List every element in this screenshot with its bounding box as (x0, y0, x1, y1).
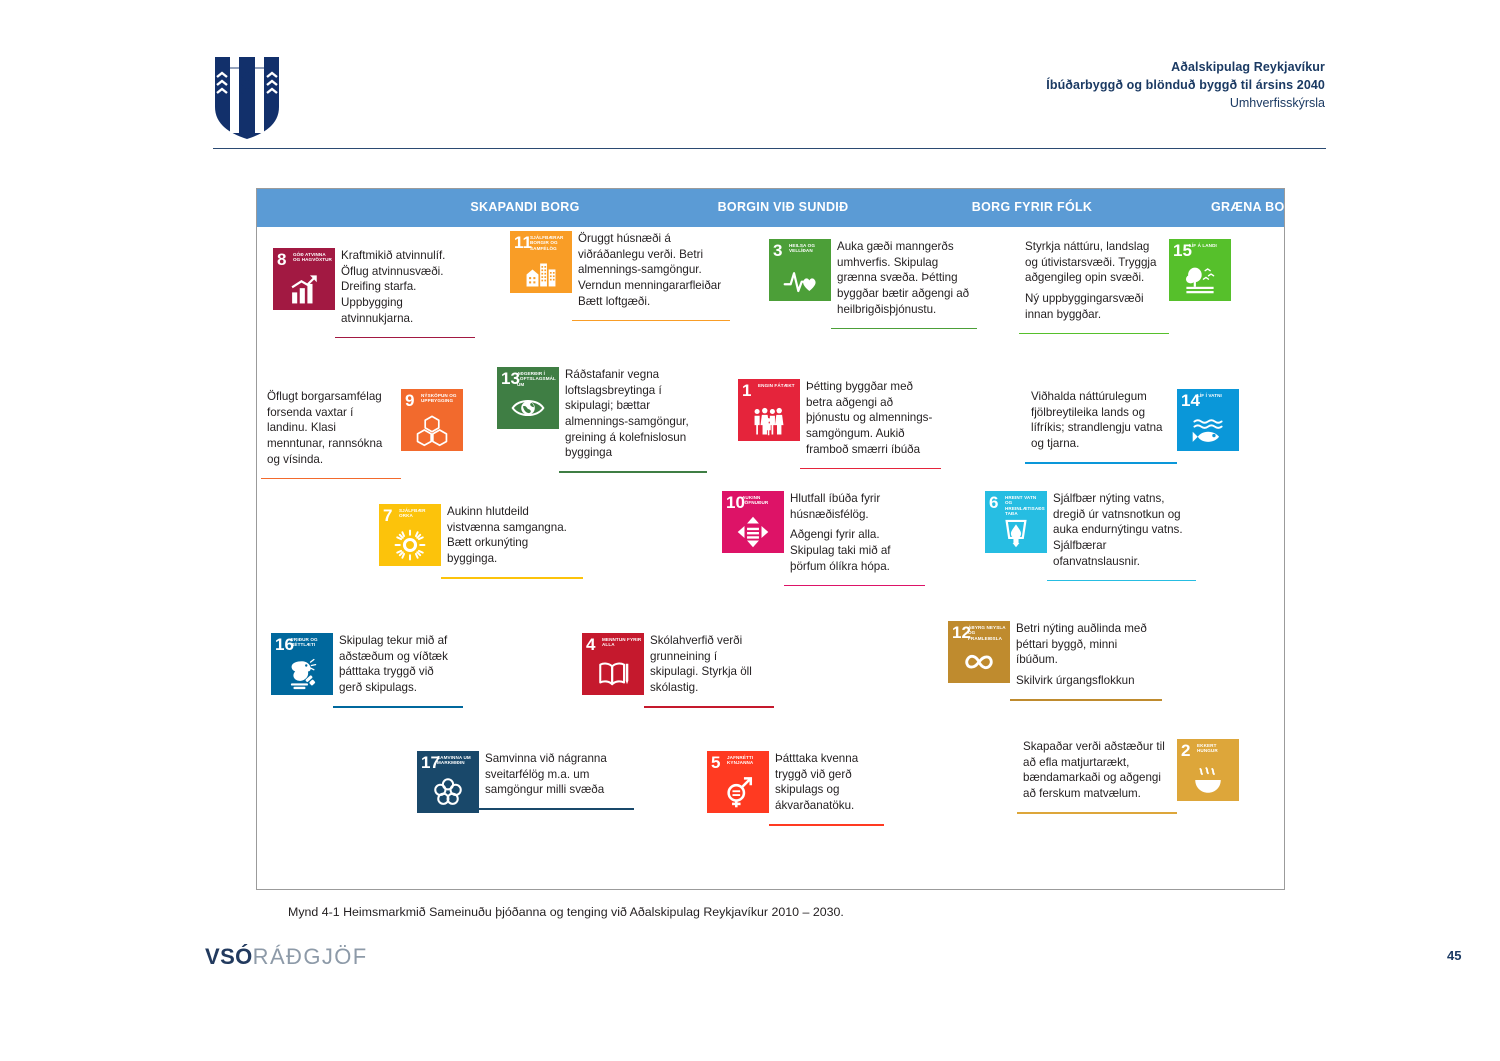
sdg-tile-9: 9NÝSKÖPUN OG UPPBYGGING (401, 389, 463, 451)
page-number: 45 (1447, 948, 1461, 963)
sdg-paragraph: Auka gæði manngerðs umhverfis. Skipulag … (837, 239, 971, 317)
column-header-borgin-vid-sundid: BORGIN VIÐ SUNDIÐ (718, 200, 849, 214)
sdg-card-text-7: Aukinn hlutdeild vistvænna samgangna. Bæ… (441, 504, 583, 572)
sdg-card-underline-13 (559, 471, 707, 473)
reykjavik-coat-of-arms-icon (213, 55, 281, 141)
sdg-card-5: 5JAFNRÉTTI KYNJANNAÞátttaka kvenna trygg… (707, 751, 884, 819)
sdg-card-6: 6HREINT VATN OG HREINLÆTISAÐSTAÐASjálfbæ… (985, 491, 1196, 574)
document-page: Aðalskipulag Reykjavíkur Íbúðarbyggð og … (0, 0, 1500, 1061)
figure-column-header-bar: SKAPANDI BORG BORGIN VIÐ SUNDIÐ BORG FYR… (257, 189, 1284, 227)
header-title-block: Aðalskipulag Reykjavíkur Íbúðarbyggð og … (1046, 58, 1325, 112)
sdg-card-text-12: Betri nýting auðlinda með þéttari byggð,… (1010, 621, 1162, 694)
sdg-tile-16: 16FRIÐUR OG RÉTTLÆTI (271, 633, 333, 695)
eye-globe-icon (497, 390, 559, 426)
sdg-goal-title-9: NÝSKÖPUN OG UPPBYGGING (421, 393, 461, 404)
sdg-card-underline-5 (769, 824, 884, 826)
header-divider (213, 148, 1326, 149)
steaming-bowl-icon (1177, 762, 1239, 798)
sdg-paragraph: Öruggt húsnæði á viðráðanlegu verði. Bet… (578, 231, 724, 309)
sun-icon (379, 527, 441, 563)
sdg-card-4: 4MENNTUN FYRIR ALLASkólahverfið verði gr… (582, 633, 774, 701)
figure-caption: Mynd 4-1 Heimsmarkmið Sameinuðu þjóðanna… (288, 905, 844, 919)
sdg-number-2: 2 (1181, 742, 1190, 759)
sdg-card-underline-1 (800, 468, 941, 470)
sdg-card-underline-11 (572, 320, 730, 322)
sdg-card-14: 14LÍF Í VATNIViðhalda náttúrulegum fjölb… (1025, 389, 1239, 457)
sdg-paragraph: Aukinn hlutdeild vistvænna samgangna. Bæ… (447, 504, 577, 567)
sdg-card-9: 9NÝSKÖPUN OG UPPBYGGINGÖflugt borgarsamf… (261, 389, 463, 472)
sdg-card-15: 15LÍF Á LANDIStyrkja náttúru, landslag o… (1019, 239, 1231, 327)
header-line-1: Aðalskipulag Reykjavíkur (1046, 58, 1325, 76)
sdg-goal-title-2: EKKERT HUNGUR (1197, 743, 1237, 754)
sdg-card-text-14: Viðhalda náttúrulegum fjölbreytileika la… (1025, 389, 1177, 457)
sdg-paragraph: Samvinna við nágranna sveitarfélög m.a. … (485, 751, 628, 798)
sdg-card-underline-4 (644, 706, 774, 708)
sdg-tile-1: 1ENGIN FÁTÆKT (738, 379, 800, 441)
sdg-card-underline-14 (1025, 462, 1177, 464)
sdg-card-3: 3HEILSA OG VELLÍÐANAuka gæði manngerðs u… (769, 239, 977, 322)
water-glass-drop-icon (985, 514, 1047, 550)
sdg-card-text-10: Hlutfall íbúða fyrir húsnæðisfélög.Aðgen… (784, 491, 925, 579)
sdg-card-text-17: Samvinna við nágranna sveitarfélög m.a. … (479, 751, 634, 803)
sdg-paragraph: Hlutfall íbúða fyrir húsnæðisfélög. (790, 491, 919, 522)
sdg-card-text-3: Auka gæði manngerðs umhverfis. Skipulag … (831, 239, 977, 322)
sdg-goal-title-17: SAMVINNA UM MARKMIÐIN (437, 755, 477, 766)
sdg-card-text-1: Þétting byggðar með betra aðgengi að þjó… (800, 379, 941, 462)
sdg-tile-12: 12ÁBYRG NEYSLA OG FRAMLEIÐSLA (948, 621, 1010, 683)
sdg-card-underline-7 (441, 577, 583, 579)
sdg-card-12: 12ÁBYRG NEYSLA OG FRAMLEIÐSLABetri nýtin… (948, 621, 1162, 694)
dove-gavel-icon (271, 656, 333, 692)
growth-chart-icon (273, 271, 335, 307)
sdg-tile-8: 8GÓÐ ATVINNA OG HAGVÖXTUR (273, 248, 335, 310)
sdg-card-text-4: Skólahverfið verði grunneining í skipula… (644, 633, 774, 701)
sdg-goal-title-15: LÍF Á LANDI (1189, 243, 1229, 248)
vso-radgjof-logo: VSÓRÁÐGJÖF (205, 944, 368, 970)
sdg-goal-title-3: HEILSA OG VELLÍÐAN (789, 243, 829, 254)
sdg-card-11: 11SJÁLFBÆRAR BORGIR OG SAMFÉLÖGÖruggt hú… (510, 231, 730, 314)
sdg-tile-17: 17SAMVINNA UM MARKMIÐIN (417, 751, 479, 813)
sdg-tile-10: 10AUKINN JÖFNUÐUR (722, 491, 784, 553)
rings-circles-icon (417, 774, 479, 810)
sdg-goal-title-7: SJÁLFBÆR ORKA (399, 508, 439, 519)
sdg-card-underline-2 (1017, 812, 1177, 814)
sdg-card-1: 1ENGIN FÁTÆKTÞétting byggðar með betra a… (738, 379, 941, 462)
sdg-card-underline-12 (1010, 699, 1162, 701)
gender-equality-icon (707, 774, 769, 810)
sdg-number-5: 5 (711, 754, 720, 771)
sdg-card-17: 17SAMVINNA UM MARKMIÐINSamvinna við nágr… (417, 751, 634, 813)
sdg-paragraph: Ný uppbyggingarsvæði innan byggðar. (1025, 291, 1163, 322)
heartbeat-icon (769, 262, 831, 298)
equals-arrows-icon (722, 514, 784, 550)
sdg-card-underline-6 (1047, 580, 1196, 582)
sdg-paragraph: Viðhalda náttúrulegum fjölbreytileika la… (1031, 389, 1171, 452)
sdg-card-text-6: Sjálfbær nýting vatns, dregið úr vatnsno… (1047, 491, 1196, 574)
sdg-goal-title-8: GÓÐ ATVINNA OG HAGVÖXTUR (293, 252, 333, 263)
infinity-icon (948, 644, 1010, 680)
sdg-figure: SKAPANDI BORG BORGIN VIÐ SUNDIÐ BORG FYR… (256, 188, 1285, 890)
sdg-card-13: 13AÐGERÐIR Í LOFTSLAGSMÁLUMRáðstafanir v… (497, 367, 707, 466)
column-header-borg-fyrir-folk: BORG FYRIR FÓLK (972, 200, 1092, 214)
sdg-goal-title-4: MENNTUN FYRIR ALLA (602, 637, 642, 648)
sdg-card-underline-3 (831, 328, 977, 330)
sdg-paragraph: Aðgengi fyrir alla. Skipulag taki mið af… (790, 527, 919, 574)
family-group-icon (738, 402, 800, 438)
sdg-card-text-13: Ráðstafanir vegna loftslagsbreytinga í s… (559, 367, 707, 466)
sdg-card-text-16: Skipulag tekur mið af aðstæðum og víðtæk… (333, 633, 463, 701)
sdg-number-8: 8 (277, 251, 286, 268)
city-buildings-icon (510, 254, 572, 290)
logo-light-text: RÁÐGJÖF (253, 944, 368, 969)
sdg-goal-title-16: FRIÐUR OG RÉTTLÆTI (291, 637, 331, 648)
sdg-paragraph: Skipulag tekur mið af aðstæðum og víðtæk… (339, 633, 457, 696)
sdg-card-2: 2EKKERT HUNGURSkapaðar verði aðstæður ti… (1017, 739, 1239, 807)
sdg-number-4: 4 (586, 636, 595, 653)
sdg-tile-3: 3HEILSA OG VELLÍÐAN (769, 239, 831, 301)
sdg-tile-5: 5JAFNRÉTTI KYNJANNA (707, 751, 769, 813)
sdg-paragraph: Ráðstafanir vegna loftslagsbreytinga í s… (565, 367, 701, 461)
sdg-tile-15: 15LÍF Á LANDI (1169, 239, 1231, 301)
sdg-tile-11: 11SJÁLFBÆRAR BORGIR OG SAMFÉLÖG (510, 231, 572, 293)
sdg-paragraph: Skólahverfið verði grunneining í skipula… (650, 633, 768, 696)
sdg-paragraph: Betri nýting auðlinda með þéttari byggð,… (1016, 621, 1156, 668)
tree-birds-icon (1169, 262, 1231, 298)
page-header: Aðalskipulag Reykjavíkur Íbúðarbyggð og … (0, 0, 1500, 150)
sdg-card-underline-17 (479, 808, 634, 810)
sdg-goal-title-13: AÐGERÐIR Í LOFTSLAGSMÁLUM (517, 371, 557, 387)
sdg-card-text-15: Styrkja náttúru, landslag og útivistarsv… (1019, 239, 1169, 327)
sdg-card-text-2: Skapaðar verði aðstæður til að efla matj… (1017, 739, 1177, 807)
sdg-goal-title-10: AUKINN JÖFNUÐUR (742, 495, 782, 506)
sdg-number-3: 3 (773, 242, 782, 259)
sdg-card-text-8: Kraftmikið atvinnulíf. Öflug atvinnusvæð… (335, 248, 475, 331)
sdg-card-underline-10 (784, 585, 925, 587)
sdg-tile-14: 14LÍF Í VATNI (1177, 389, 1239, 451)
header-line-3: Umhverfisskýrsla (1046, 94, 1325, 112)
sdg-card-underline-8 (335, 337, 475, 339)
sdg-card-10: 10AUKINN JÖFNUÐURHlutfall íbúða fyrir hú… (722, 491, 925, 579)
fish-waves-icon (1177, 412, 1239, 448)
sdg-card-text-9: Öflugt borgarsamfélag forsenda vaxtar í … (261, 389, 401, 472)
sdg-number-9: 9 (405, 392, 414, 409)
sdg-paragraph: Öflugt borgarsamfélag forsenda vaxtar í … (267, 389, 395, 467)
column-header-skapandi-borg: SKAPANDI BORG (470, 200, 579, 214)
sdg-paragraph: Skilvirk úrgangsflokkun (1016, 673, 1156, 689)
sdg-card-underline-16 (333, 706, 463, 708)
sdg-card-underline-9 (261, 478, 401, 480)
sdg-paragraph: Þátttaka kvenna tryggð við gerð skipulag… (775, 751, 878, 814)
header-line-2: Íbúðarbyggð og blönduð byggð til ársins … (1046, 76, 1325, 94)
sdg-goal-title-5: JAFNRÉTTI KYNJANNA (727, 755, 767, 766)
sdg-tile-4: 4MENNTUN FYRIR ALLA (582, 633, 644, 695)
sdg-goal-title-12: ÁBYRG NEYSLA OG FRAMLEIÐSLA (968, 625, 1008, 641)
sdg-card-text-11: Öruggt húsnæði á viðráðanlegu verði. Bet… (572, 231, 730, 314)
sdg-tile-13: 13AÐGERÐIR Í LOFTSLAGSMÁLUM (497, 367, 559, 429)
sdg-card-underline-15 (1019, 333, 1169, 335)
sdg-card-7: 7SJÁLFBÆR ORKAAukinn hlutdeild vistvænna… (379, 504, 583, 572)
book-pencil-icon (582, 656, 644, 692)
sdg-paragraph: Kraftmikið atvinnulíf. Öflug atvinnusvæð… (341, 248, 469, 326)
sdg-paragraph: Þétting byggðar með betra aðgengi að þjó… (806, 379, 935, 457)
sdg-card-8: 8GÓÐ ATVINNA OG HAGVÖXTURKraftmikið atvi… (273, 248, 475, 331)
sdg-tile-6: 6HREINT VATN OG HREINLÆTISAÐSTAÐA (985, 491, 1047, 553)
sdg-number-1: 1 (742, 382, 751, 399)
sdg-paragraph: Styrkja náttúru, landslag og útivistarsv… (1025, 239, 1163, 286)
cubes-icon (401, 412, 463, 448)
column-header-graena-borgin: GRÆNA BORGIN (1211, 200, 1317, 214)
sdg-paragraph: Sjálfbær nýting vatns, dregið úr vatnsno… (1053, 491, 1190, 569)
sdg-number-7: 7 (383, 507, 392, 524)
sdg-goal-title-1: ENGIN FÁTÆKT (758, 383, 798, 388)
sdg-goal-title-14: LÍF Í VATNI (1197, 393, 1237, 398)
sdg-card-text-5: Þátttaka kvenna tryggð við gerð skipulag… (769, 751, 884, 819)
sdg-number-6: 6 (989, 494, 998, 511)
sdg-tile-2: 2EKKERT HUNGUR (1177, 739, 1239, 801)
sdg-card-16: 16FRIÐUR OG RÉTTLÆTISkipulag tekur mið a… (271, 633, 463, 701)
logo-bold-text: VSÓ (205, 944, 253, 969)
sdg-tile-7: 7SJÁLFBÆR ORKA (379, 504, 441, 566)
sdg-goal-title-11: SJÁLFBÆRAR BORGIR OG SAMFÉLÖG (530, 235, 570, 251)
sdg-paragraph: Skapaðar verði aðstæður til að efla matj… (1023, 739, 1171, 802)
